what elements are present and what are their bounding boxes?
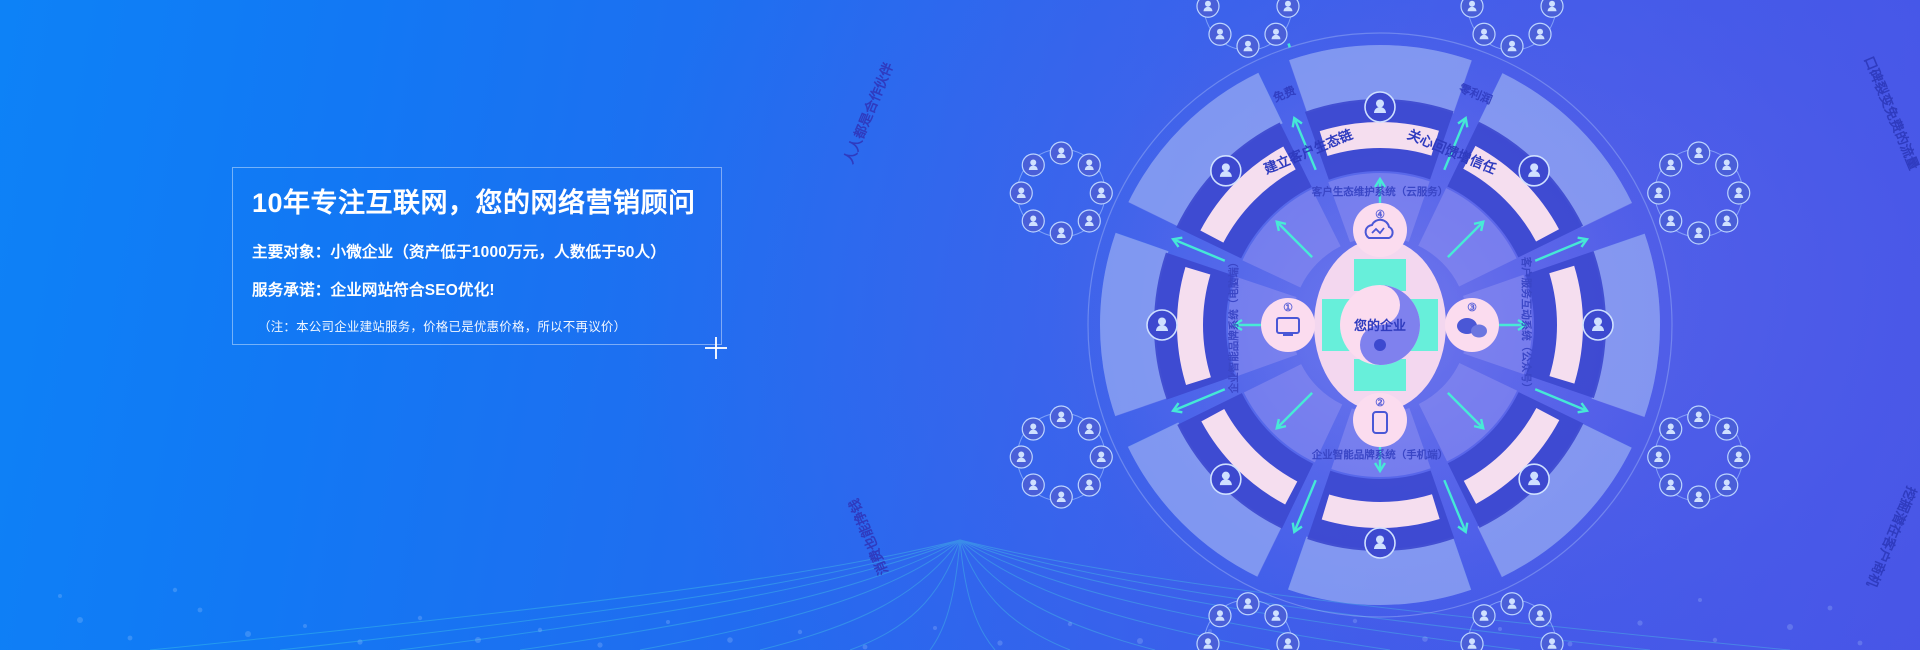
inner-ring-label: 人人都是合作伙伴 (840, 60, 896, 166)
copy-block: 10年专注互联网，您的网络营销顾问 主要对象：小微企业（资产低于1000万元，人… (252, 186, 722, 336)
target-audience-line: 主要对象：小微企业（资产低于1000万元，人数低于50人） (252, 242, 722, 264)
center-core: 您的企业 (1314, 239, 1446, 411)
node-label: 客户服务互动系统（公众号） (1520, 256, 1533, 394)
service-promise-line: 服务承诺：企业网站符合SEO优化! (252, 280, 722, 302)
user-cluster (1648, 142, 1750, 244)
user-cluster (1010, 406, 1112, 508)
user-cluster (1648, 406, 1750, 508)
node-label: 企业智能品牌系统（手机端） (1311, 448, 1449, 461)
cluster-arrows (1289, 43, 1290, 47)
page-title: 10年专注互联网，您的网络营销顾问 (252, 186, 722, 220)
ecosystem-wheel-diagram: 建立客户生态链 关心回馈增信任 消费也能挣钱 人人都是合作伙伴 赚钱分享口碑裂变… (840, 0, 1920, 650)
node-label: 客户生态维护系统（云服务） (1311, 185, 1449, 198)
banner-stage: 10年专注互联网，您的网络营销顾问 主要对象：小微企业（资产低于1000万元，人… (0, 0, 1920, 650)
pricing-note: （注：本公司企业建站服务，价格已是优惠价格，所以不再议价） (258, 318, 722, 336)
inner-ring-label: 消费也能挣钱 (845, 496, 891, 577)
node-number: ③ (1467, 302, 1477, 314)
inner-ring-label: 口碑裂变免费的流量 (1861, 54, 1920, 173)
center-label: 您的企业 (1354, 318, 1406, 333)
user-cluster (1010, 142, 1112, 244)
inner-ring-label: 挖掘潜在客户商机 (1864, 484, 1920, 590)
node-number: ① (1283, 302, 1293, 314)
node-label: 企业智能品牌系统（电脑端） (1227, 257, 1240, 395)
node-number: ② (1375, 397, 1385, 409)
